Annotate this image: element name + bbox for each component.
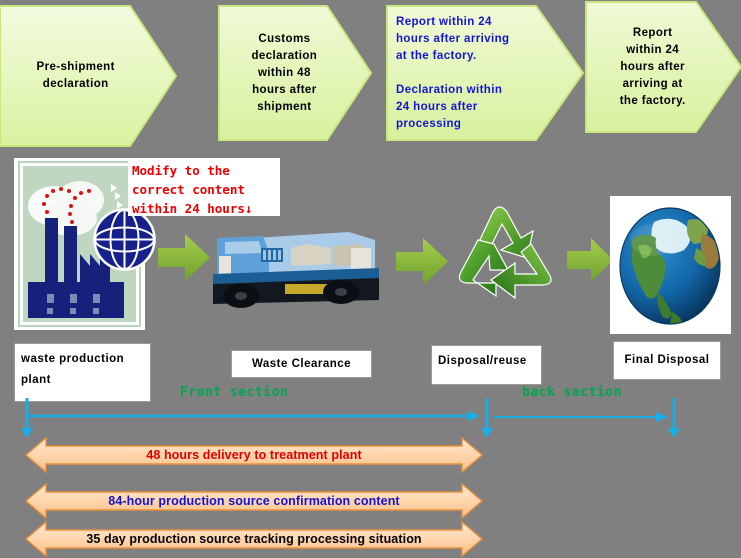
diagram-canvas: Pre-shipment declaration Customs declara… [0, 0, 741, 557]
chevron-label: Pre-shipment declaration [0, 59, 176, 93]
label-waste-production-plant[interactable]: waste production plant [14, 343, 151, 402]
chevron-report-arrival[interactable]: Report within 24 hours after arriving at… [586, 2, 741, 132]
flow-arrow-3 [567, 238, 613, 282]
chevron-pre-shipment-declaration[interactable]: Pre-shipment declaration [0, 6, 176, 146]
measure-lines-svg [0, 398, 741, 438]
label-final-disposal[interactable]: Final Disposal [613, 341, 721, 380]
recycle-icon [447, 200, 563, 330]
section-measure-lines [0, 398, 741, 438]
waste-truck-illustration [199, 222, 384, 310]
flow-arrow-2 [396, 238, 448, 285]
chevron-label: Report within 24 hours after arriving at… [387, 14, 583, 133]
chevron-label: Customs declaration within 48 hours afte… [219, 31, 371, 116]
earth-icon [610, 196, 731, 334]
banner-label: 35 day production source tracking proces… [26, 520, 482, 558]
banner-production-source-tracking[interactable]: 35 day production source tracking proces… [26, 520, 482, 558]
banner-delivery-48-hours[interactable]: 48 hours delivery to treatment plant [26, 436, 482, 474]
truck-icon [199, 222, 384, 310]
banner-label: 84-hour production source confirmation c… [26, 482, 482, 520]
banner-production-source-confirmation[interactable]: 84-hour production source confirmation c… [26, 482, 482, 520]
modify-note: Modify to the correct content within 24 … [128, 158, 280, 216]
chevron-label: Report within 24 hours after arriving at… [586, 25, 741, 110]
recycling-symbol [447, 200, 563, 330]
label-waste-clearance[interactable]: Waste Clearance [231, 350, 372, 378]
right-arrow-icon [396, 238, 448, 285]
chevron-customs-declaration[interactable]: Customs declaration within 48 hours afte… [219, 6, 371, 140]
right-arrow-icon [567, 238, 613, 282]
banner-label: 48 hours delivery to treatment plant [26, 436, 482, 474]
chevron-report-and-declaration[interactable]: Report within 24 hours after arriving at… [387, 6, 583, 140]
earth-globe [610, 196, 731, 334]
label-disposal-reuse[interactable]: Disposal/reuse [431, 345, 542, 385]
